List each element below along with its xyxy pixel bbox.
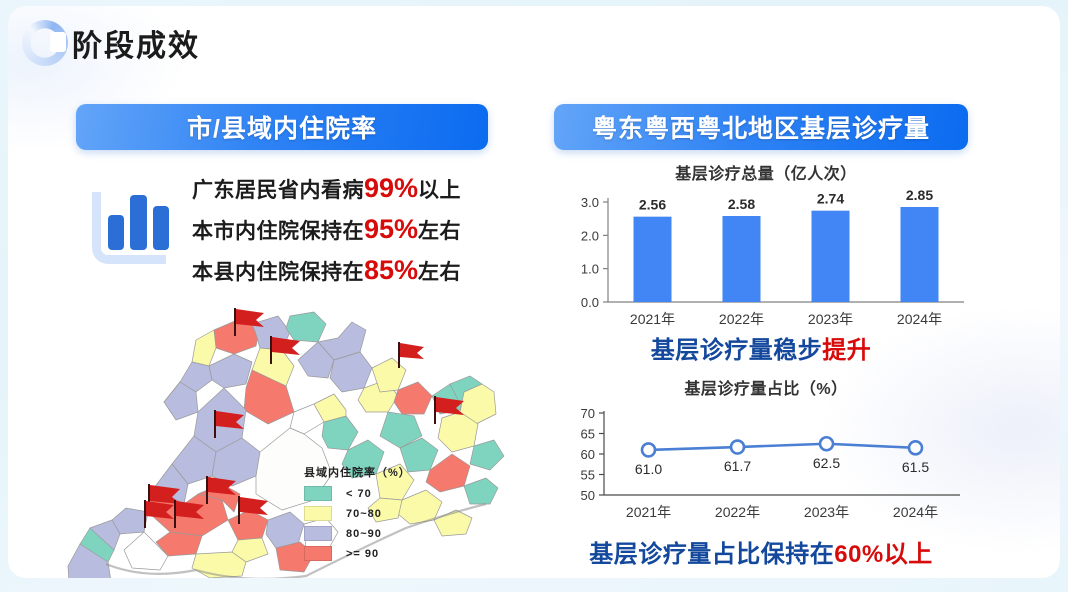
bar-x-tick: 2023年: [808, 311, 853, 327]
bar-y-tick: 0.0: [581, 295, 599, 310]
legend-swatch: [304, 526, 332, 541]
legend-swatch: [304, 506, 332, 521]
line-value-label: 61.0: [635, 461, 662, 477]
caption-top-red: 提升: [822, 337, 871, 364]
line-y-tick: 50: [581, 488, 595, 503]
stat-suffix: 左右: [418, 220, 461, 243]
line-chart-svg: 505560657061.02021年61.72022年62.52023年61.…: [560, 399, 972, 539]
legend-item: 80~90: [304, 526, 411, 541]
line-value-label: 61.5: [902, 459, 929, 475]
hospitalization-stats: 广东居民省内看病99%以上 本市内住院保持在95%左右 本县内住院保持在85%左…: [84, 172, 461, 287]
guangdong-province-map: 县域内住院率（%） < 70 70~80 80~90 >= 90: [46, 288, 506, 578]
line-marker: [909, 441, 922, 454]
bar-y-tick: 3.0: [581, 195, 599, 210]
line-y-tick: 55: [581, 468, 595, 483]
legend-title: 县域内住院率（%）: [304, 464, 411, 480]
line-marker: [642, 443, 655, 456]
bar-value-label: 2.56: [639, 197, 666, 213]
bar-value-label: 2.58: [728, 196, 755, 212]
line-marker: [731, 441, 744, 454]
line-y-tick: 70: [581, 406, 595, 421]
stat-prefix: 本县内住院保持在: [192, 261, 364, 284]
map-legend: 县域内住院率（%） < 70 70~80 80~90 >= 90: [304, 464, 411, 566]
right-section-banner: 粤东粤西粤北地区基层诊疗量: [554, 104, 968, 150]
line-value-label: 62.5: [813, 455, 840, 471]
legend-label: 70~80: [346, 508, 382, 520]
stat-highlight: 85%: [364, 255, 418, 285]
bar: [812, 211, 850, 302]
stat-prefix: 广东居民省内看病: [192, 179, 364, 202]
line-marker: [820, 437, 833, 450]
bar-y-tick: 1.0: [581, 262, 599, 277]
bar-chart-block: 基层诊疗总量（亿人次） 0.01.02.03.02.562021年2.58202…: [560, 160, 972, 340]
legend-label: 80~90: [346, 528, 382, 540]
stat-suffix: 左右: [418, 261, 461, 284]
bar-value-label: 2.85: [906, 187, 933, 203]
stat-line: 本县内住院保持在85%左右: [192, 254, 461, 288]
line-x-tick: 2022年: [715, 504, 760, 520]
line-x-tick: 2023年: [804, 504, 849, 520]
line-y-tick: 60: [581, 447, 595, 462]
caption-top: 基层诊疗量稳步提升: [554, 330, 968, 365]
map-svg: [46, 288, 506, 578]
bar-chart-icon: [84, 184, 176, 276]
bar-value-label: 2.74: [817, 191, 844, 207]
page-header: 阶段成效: [22, 20, 200, 66]
line-x-tick: 2021年: [626, 504, 671, 520]
legend-swatch: [304, 486, 332, 501]
ring-progress-icon: [22, 20, 68, 66]
legend-item: 70~80: [304, 506, 411, 521]
caption-bottom-blue: 基层诊疗量占比保持在: [589, 541, 834, 568]
legend-label: < 70: [346, 488, 372, 500]
bar-chart-title: 基层诊疗总量（亿人次）: [560, 160, 972, 184]
bar-y-tick: 2.0: [581, 228, 599, 243]
bar-chart-svg: 0.01.02.03.02.562021年2.582022年2.742023年2…: [560, 184, 972, 336]
line-chart-title: 基层诊疗量占比（%）: [560, 375, 972, 399]
legend-item: >= 90: [304, 546, 411, 561]
bar: [901, 207, 939, 302]
caption-bottom: 基层诊疗量占比保持在60%以上: [554, 534, 968, 569]
legend-item: < 70: [304, 486, 411, 501]
bar-x-tick: 2021年: [630, 311, 675, 327]
left-section-banner: 市/县域内住院率: [76, 104, 488, 150]
stat-suffix: 以上: [418, 179, 461, 202]
line-x-tick: 2024年: [893, 504, 938, 520]
legend-label: >= 90: [346, 548, 379, 560]
page-title: 阶段成效: [72, 21, 200, 65]
bar: [634, 217, 672, 302]
bar: [723, 216, 761, 302]
line-y-tick: 65: [581, 427, 595, 442]
caption-bottom-red: 60%以上: [834, 541, 933, 568]
stat-highlight: 99%: [364, 173, 418, 203]
stat-prefix: 本市内住院保持在: [192, 220, 364, 243]
stat-highlight: 95%: [364, 214, 418, 244]
legend-swatch: [304, 546, 332, 561]
stat-line: 本市内住院保持在95%左右: [192, 213, 461, 247]
line-value-label: 61.7: [724, 458, 751, 474]
caption-top-blue: 基层诊疗量稳步: [651, 337, 823, 364]
stat-line: 广东居民省内看病99%以上: [192, 172, 461, 206]
bar-x-tick: 2024年: [897, 311, 942, 327]
bar-x-tick: 2022年: [719, 311, 764, 327]
line-chart-block: 基层诊疗量占比（%） 505560657061.02021年61.72022年6…: [560, 375, 972, 540]
